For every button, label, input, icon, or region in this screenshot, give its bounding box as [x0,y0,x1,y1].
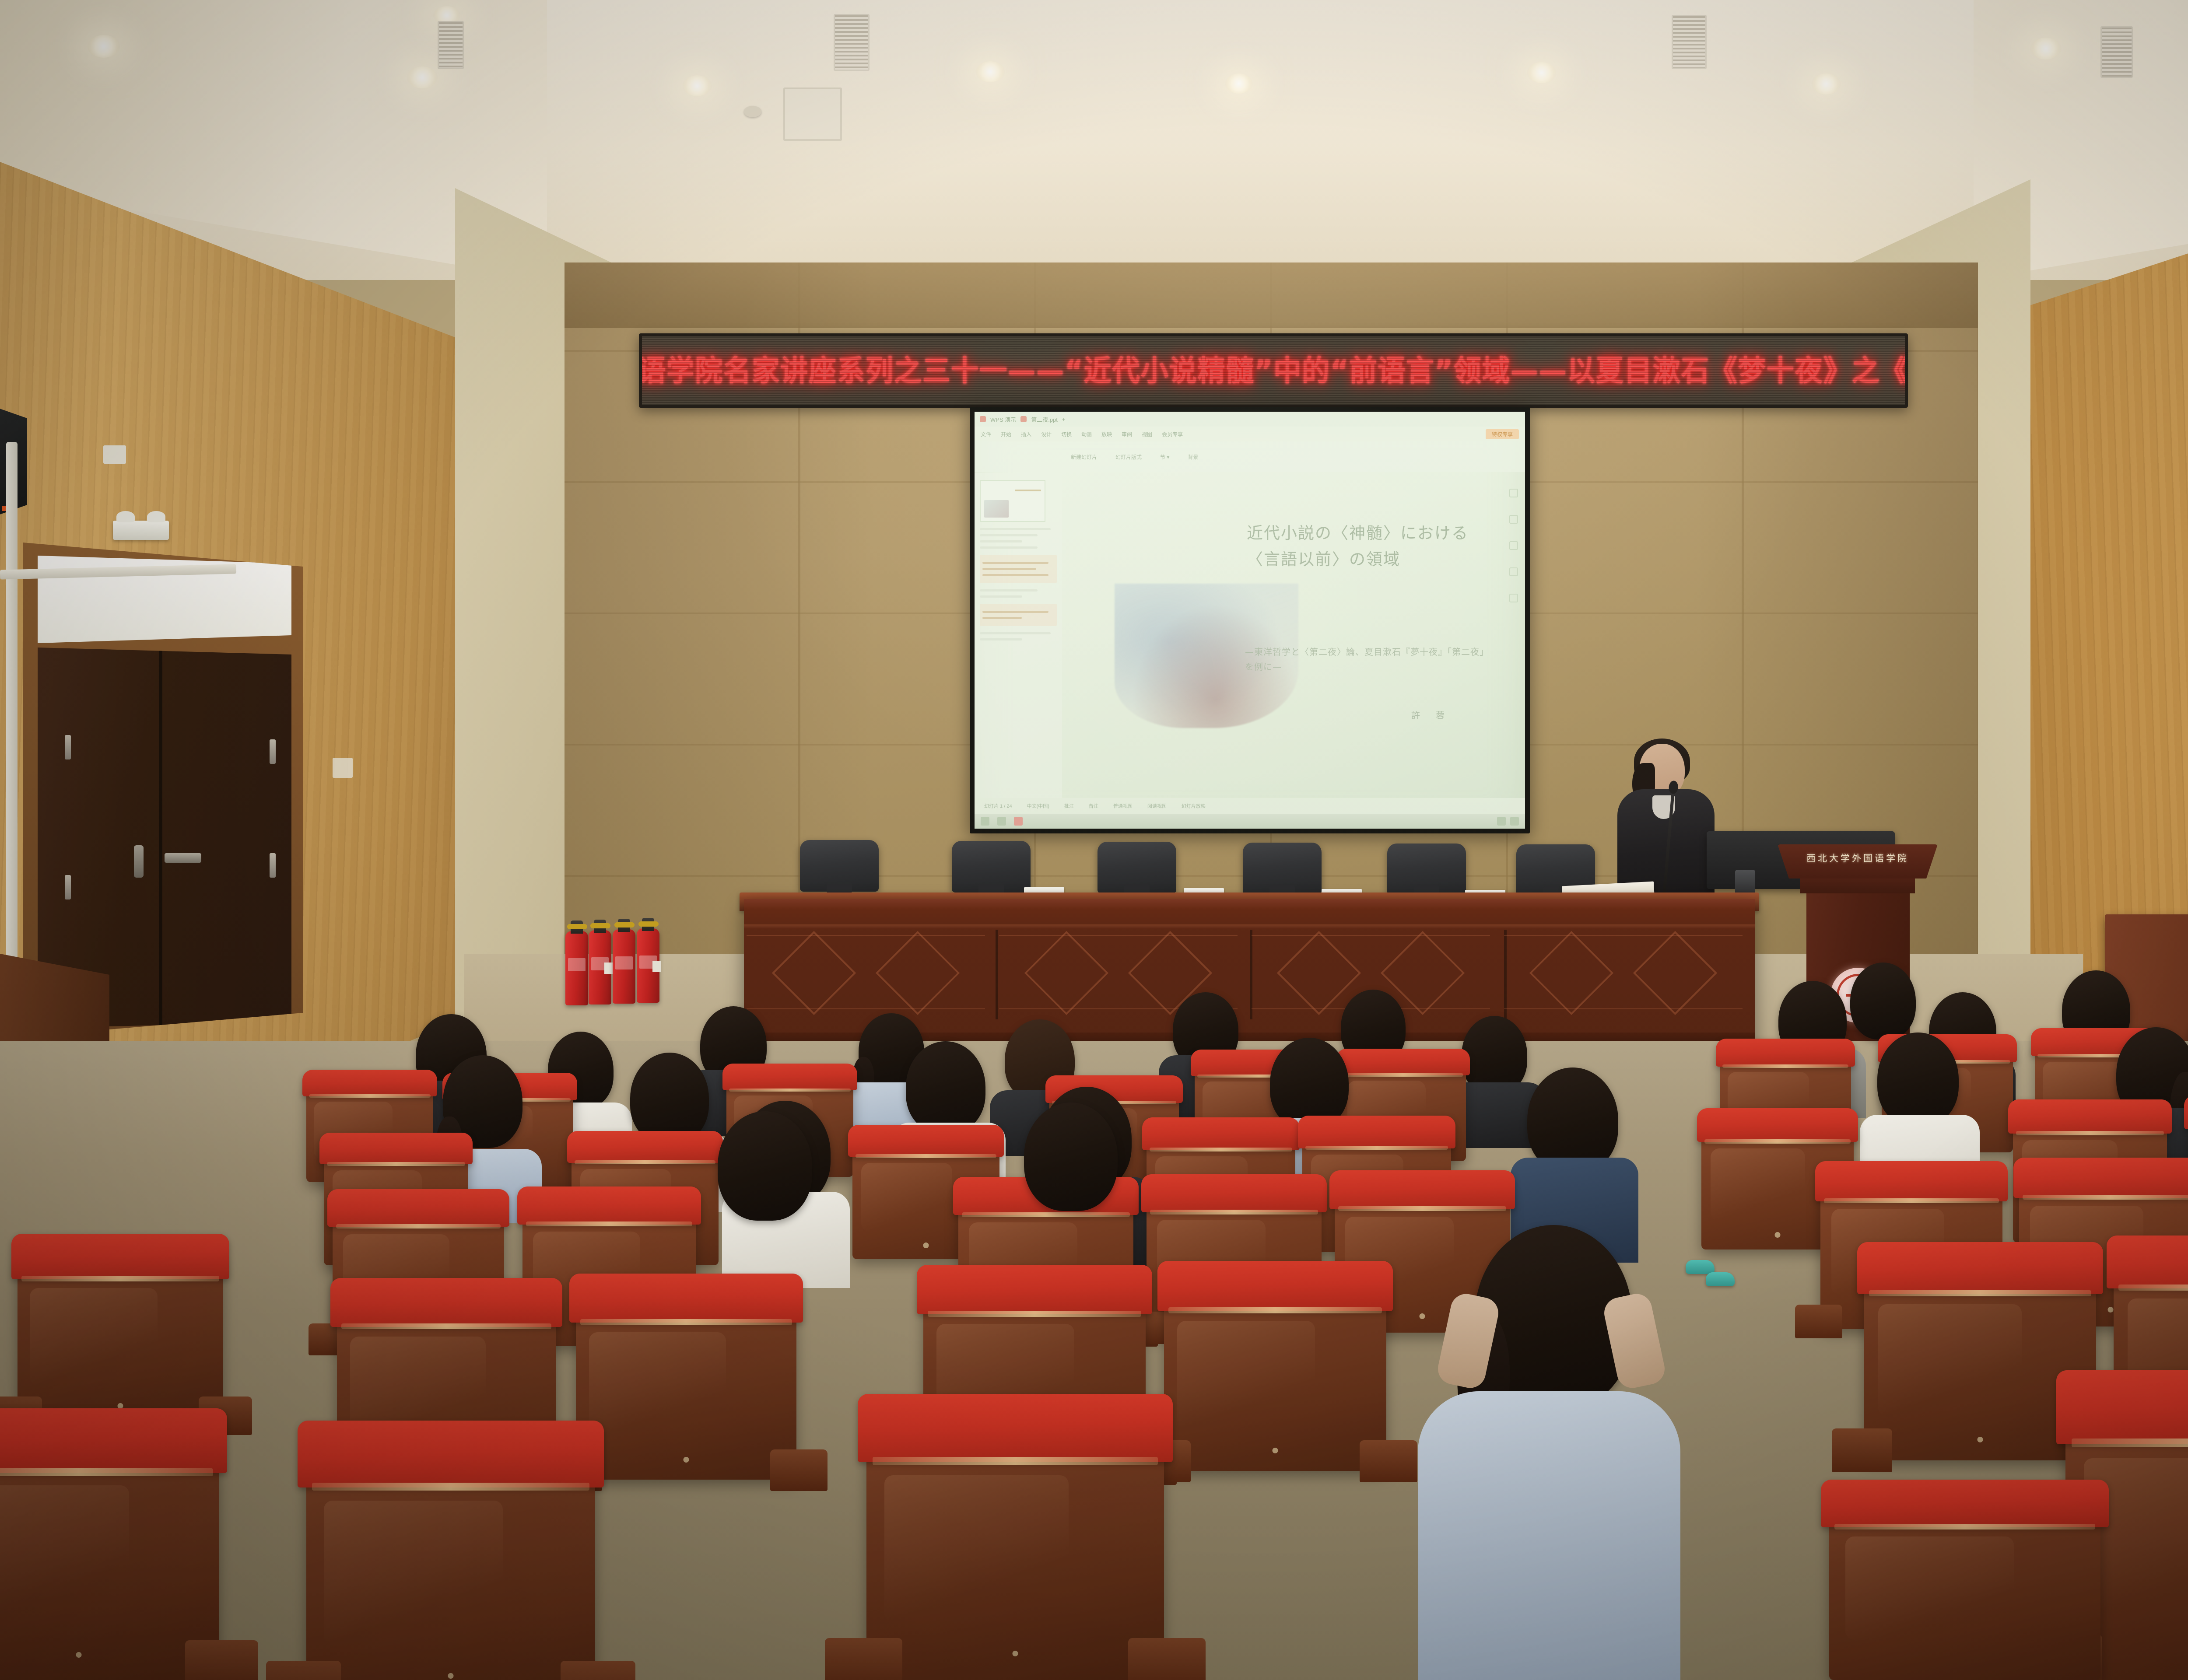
wall-conduit-vertical [6,442,18,1032]
folder-icon[interactable] [1497,817,1506,826]
ribbon-tab-animation[interactable]: 动画 [1081,430,1092,438]
ribbon-tab-view[interactable]: 视图 [1142,430,1152,438]
ribbon-toolbar: 新建幻灯片 幻灯片版式 节 ▾ 背景 [975,441,1525,472]
entry-door-left[interactable] [23,542,303,1037]
ribbon-tab-insert[interactable]: 插入 [1021,430,1031,438]
door-pull-handle[interactable] [134,845,144,878]
premium-badge-button[interactable]: 特权专享 [1486,429,1519,439]
podium-neck [1800,878,1915,893]
table-panel-inlay [747,935,985,1009]
audience-person-head [1527,1067,1618,1172]
audience-shoe [1706,1272,1735,1286]
slide-layout-button[interactable]: 幻灯片版式 [1115,453,1142,461]
podium-nameplate-text: 西北大学外国语学院 [1778,851,1938,864]
auditorium-seat[interactable] [1829,1496,2100,1680]
audience-person-torso-foreground [1418,1391,1680,1680]
right-tool-rail[interactable] [1502,477,1525,794]
ceiling-air-vent [2100,26,2133,78]
led-banner: 西北大学外国语学院名家讲座系列之三十一——“近代小说精髓”中的“前语言”领域——… [639,333,1908,408]
chart-icon[interactable] [1509,567,1518,576]
stage-chair [800,840,879,892]
auditorium-seat[interactable] [18,1249,223,1424]
fire-extinguisher [637,928,659,1003]
ceiling-downlight [88,35,120,58]
notes-button[interactable]: 备注 [1089,802,1098,809]
audience-person-head [630,1053,709,1144]
auditorium-scene: 西北大学外国语学院名家讲座系列之三十一——“近代小说精髓”中的“前语言”领域——… [0,0,2188,1680]
background-button[interactable]: 背景 [1188,453,1198,461]
door-hinge [65,735,71,759]
smoke-detector-icon [744,106,761,117]
fire-extinguisher [613,929,635,1004]
auditorium-seat[interactable] [1164,1278,1386,1471]
door-hinge [65,875,71,899]
door-handle[interactable] [165,853,201,863]
ceiling-air-vent [1672,15,1707,69]
reading-view-button[interactable]: 阅读视图 [1147,802,1167,809]
slide-subtitle-text: —東洋哲学と〈第二夜〉論、夏目漱石『夢十夜』「第二夜」を例に— [1245,644,1490,675]
emergency-exit-light [113,521,169,540]
audience-person-head [906,1041,985,1133]
table-panel-inlay [1504,935,1743,1009]
os-taskbar [975,814,1525,829]
app-titlebar: WPS 演示 第二夜.ppt + [975,412,1525,427]
ribbon-tab-review[interactable]: 审阅 [1122,430,1132,438]
audience-person-head [1024,1102,1118,1211]
auditorium-seat[interactable] [576,1291,796,1480]
wps-app-icon [980,416,986,422]
search-icon[interactable] [1509,489,1518,497]
wps-icon[interactable] [1014,817,1023,826]
audience-person-head [718,1111,812,1221]
section-button[interactable]: 节 ▾ [1160,453,1169,461]
slide-thumbnail[interactable] [980,480,1045,522]
ceiling-downlight [2030,38,2061,59]
ribbon-tab-slideshow[interactable]: 放映 [1101,430,1112,438]
ceiling-downlight [1225,73,1252,94]
projection-screen-frame: WPS 演示 第二夜.ppt + 文件 开始 插入 设计 切换 动画 放映 审阅… [970,407,1530,833]
led-banner-text: 西北大学外国语学院名家讲座系列之三十一——“近代小说精髓”中的“前语言”领域——… [639,356,1908,385]
slideshow-button[interactable]: 幻灯片放映 [1182,802,1206,809]
ribbon-tab-design[interactable]: 设计 [1041,430,1052,438]
slide-canvas[interactable]: 近代小説の〈神髄〉における〈言語以前〉の領域 —東洋哲学と〈第二夜〉論、夏目漱石… [1062,473,1501,798]
audience-shoe [1686,1260,1715,1274]
cloud-icon[interactable] [1509,594,1518,602]
status-bar: 幻灯片 1 / 24 中文(中国) 批注 备注 普通视图 阅读视图 幻灯片放映 [975,798,1525,814]
wall-switch-plate[interactable] [103,445,126,464]
slide-author-text: 許 蓉 [1411,708,1448,721]
door-hinge [270,853,276,878]
auditorium-seat[interactable] [866,1417,1164,1680]
document-tab-label[interactable]: 第二夜.ppt [1031,415,1058,423]
image-icon[interactable] [1509,541,1518,550]
slide-thumbnail-pane[interactable] [975,473,1062,798]
language-indicator[interactable]: 中文(中国) [1027,802,1049,809]
new-slide-button[interactable]: 新建幻灯片 [1071,453,1097,461]
audience-person-head [1850,962,1916,1039]
browser-icon[interactable] [1510,817,1519,826]
stage-chair [1098,842,1176,893]
stage-chair [1387,843,1466,895]
ceiling-air-vent [834,14,870,71]
ribbon-tab-home[interactable]: 开始 [1001,430,1011,438]
ceiling-air-vent [438,21,464,69]
fire-extinguisher [565,931,588,1005]
comments-button[interactable]: 批注 [1064,802,1074,809]
ceiling-downlight [407,66,438,88]
ribbon-tab-member[interactable]: 会员专享 [1162,430,1183,438]
ribbon-tab-file[interactable]: 文件 [981,430,991,438]
auditorium-seat[interactable] [306,1444,595,1680]
app-tab-label[interactable]: WPS 演示 [990,415,1016,423]
audience-person-head [1270,1038,1349,1129]
ceiling-air-vent [783,87,842,141]
ceiling-downlight [976,61,1005,82]
audience-person-head [1877,1032,1959,1126]
wall-outlet-plate[interactable] [333,758,353,778]
auditorium-seat[interactable] [0,1431,219,1680]
podium-top: 西北大学外国语学院 [1778,844,1938,878]
shapes-icon[interactable] [1509,515,1518,524]
normal-view-button[interactable]: 普通视图 [1113,802,1133,809]
projection-screen: WPS 演示 第二夜.ppt + 文件 开始 插入 设计 切换 动画 放映 审阅… [975,412,1525,829]
search-icon[interactable] [997,817,1006,826]
ceiling-downlight [683,75,712,96]
stage-chair [952,841,1031,892]
fire-extinguisher [589,930,611,1004]
slide-title-text: 近代小説の〈神髄〉における〈言語以前〉の領域 [1247,520,1492,573]
slide-counter: 幻灯片 1 / 24 [984,802,1012,809]
ceiling-downlight [1527,62,1556,83]
ribbon-tab-bar: 文件 开始 插入 设计 切换 动画 放映 审阅 视图 会员专享 特权专享 [975,427,1525,441]
door-hinge [270,739,276,764]
new-tab-button[interactable]: + [1062,416,1066,423]
start-icon[interactable] [981,817,989,826]
presentation-file-icon [1020,416,1027,422]
stage-chair [1243,843,1322,894]
ceiling-downlight [1812,73,1841,94]
ribbon-tab-transition[interactable]: 切换 [1061,430,1072,438]
